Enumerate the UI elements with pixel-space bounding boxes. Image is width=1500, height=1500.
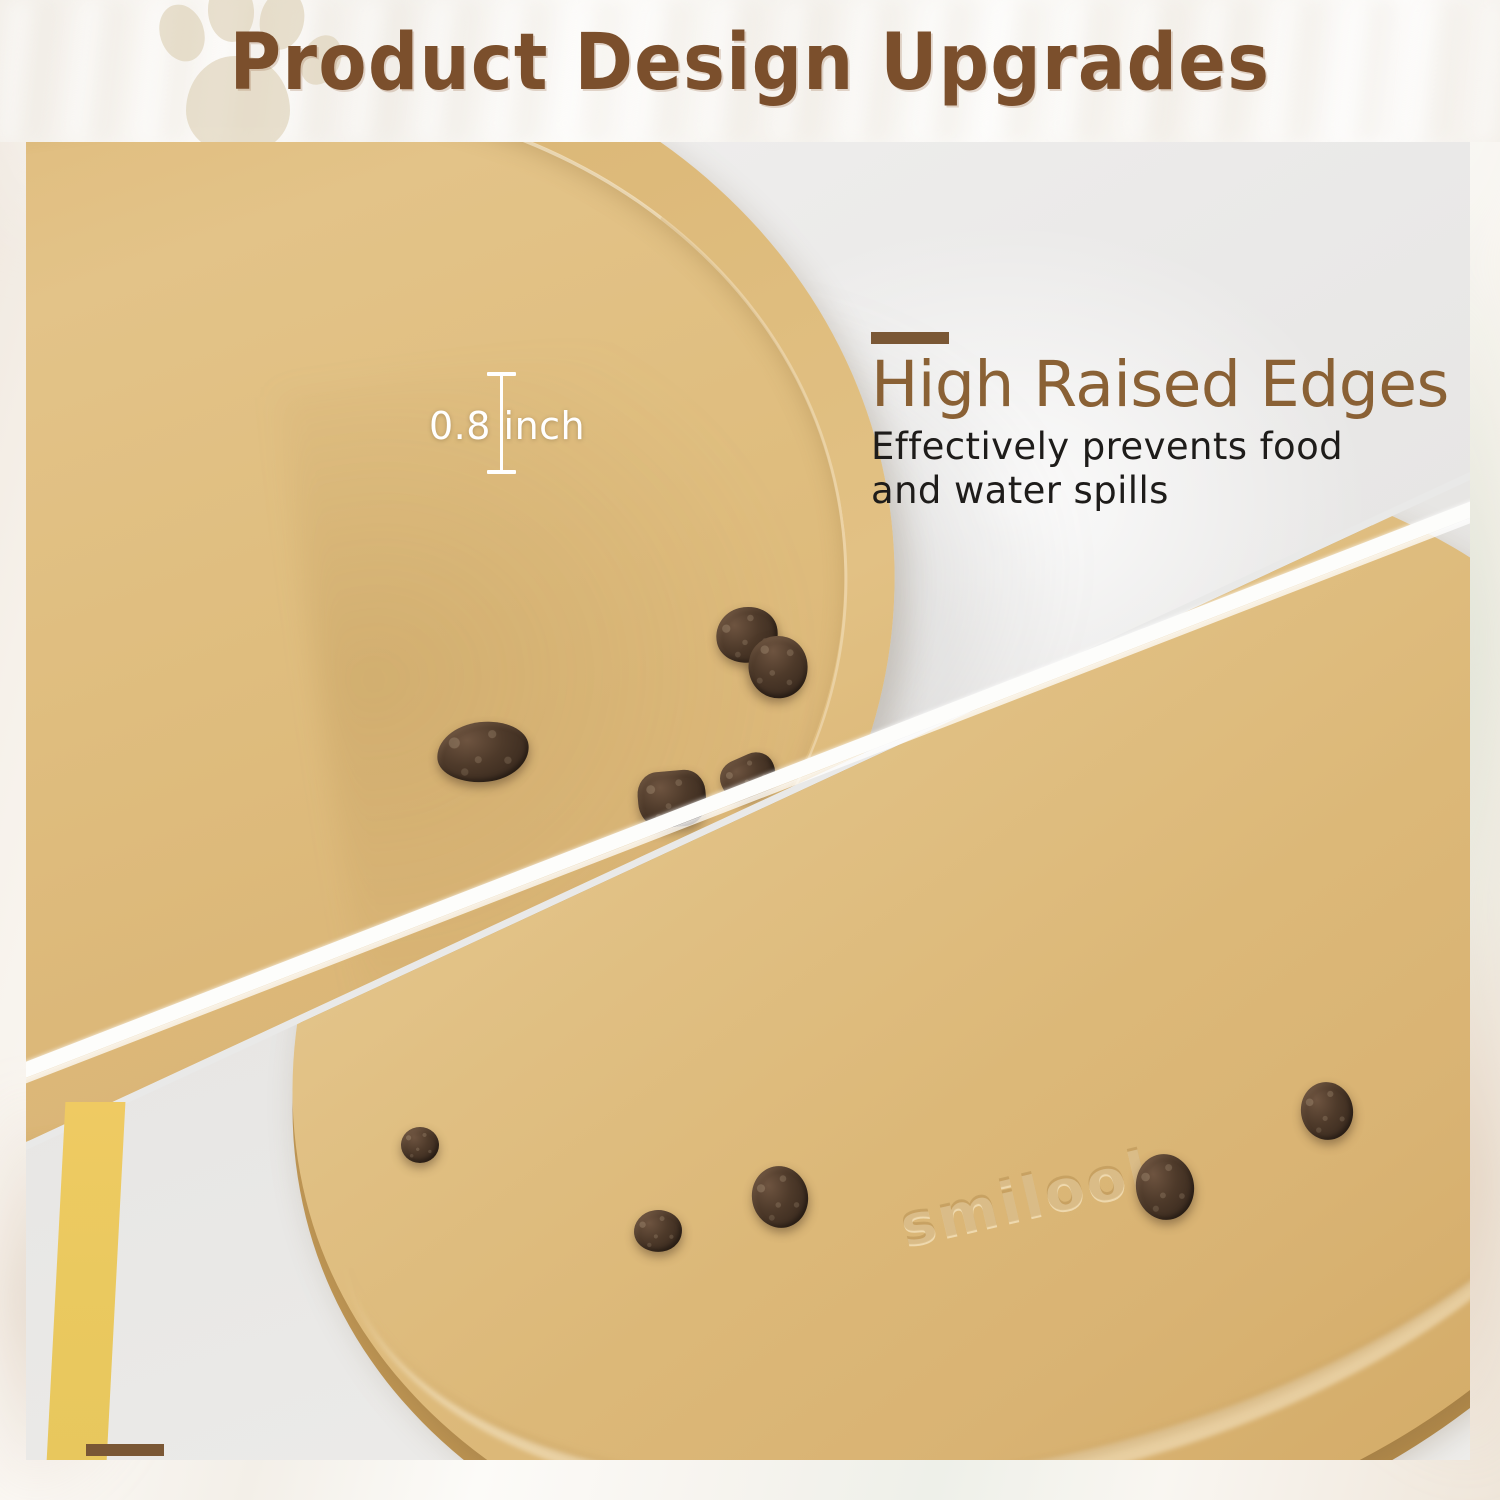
callout-subtitle-high-raised-edges: Effectively prevents food and water spil…	[871, 425, 1470, 512]
callout-title-high-raised-edges: High Raised Edges	[871, 353, 1470, 417]
kibble-piece	[636, 768, 709, 830]
header-banner: Product Design Upgrades	[0, 0, 1500, 142]
callout-keeping-floor-clean: Keeping the floor clean Minimizes time s…	[86, 1444, 1346, 1460]
accent-bar-icon	[86, 1444, 164, 1456]
callout-subtitle-line-2: and water spills	[871, 469, 1470, 513]
dimension-label: 0.8 inch	[429, 404, 585, 448]
accent-bar-icon	[871, 332, 949, 344]
product-photo: smilool 0.8 inch High Raised Edges	[26, 142, 1470, 1460]
page-title: Product Design Upgrades	[75, 18, 1425, 108]
callout-subtitle-line-1: Effectively prevents food	[871, 425, 1470, 469]
infographic-page: Product Design Upgrades	[0, 0, 1500, 1500]
kibble-piece	[401, 1127, 439, 1163]
callout-high-raised-edges: High Raised Edges Effectively prevents f…	[871, 332, 1470, 513]
product-photo-frame: smilool 0.8 inch High Raised Edges	[26, 142, 1470, 1460]
